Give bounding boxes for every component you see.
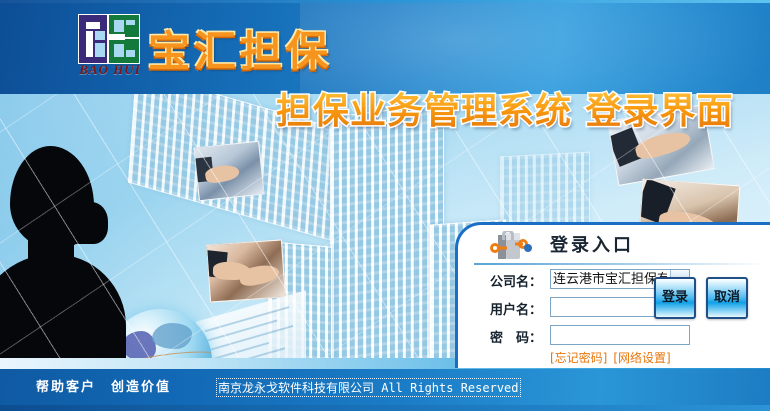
panel-links: [忘记密码][网络设置] <box>550 349 671 366</box>
login-panel: 登录入口 公司名： 连云港市宝汇担保有 用户名： 密 码： <box>455 222 770 368</box>
lock-and-key-icon <box>482 231 536 261</box>
cancel-button[interactable]: 取消 <box>706 277 748 319</box>
forgot-password-link[interactable]: [忘记密码] <box>550 351 607 365</box>
password-label: 密 码： <box>458 327 542 346</box>
login-button[interactable]: 登录 <box>654 277 696 319</box>
footer-slogan: 帮助客户 创造价值 <box>36 376 171 395</box>
username-label: 用户名： <box>458 299 542 318</box>
company-label: 公司名： <box>458 271 542 290</box>
company-select-value: 连云港市宝汇担保有 <box>553 271 667 289</box>
footer-copyright: 南京龙永戈软件科技有限公司 All Rights Reserved <box>216 378 521 397</box>
panel-heading: 登录入口 <box>550 231 634 257</box>
heading-divider <box>474 263 766 265</box>
password-input[interactable] <box>550 325 690 345</box>
baohui-monogram-logo-icon <box>78 14 140 64</box>
company-logo: BAO HUI <box>78 14 140 82</box>
page-title: 担保业务管理系统 登录界面 <box>276 82 734 134</box>
network-settings-link[interactable]: [网络设置] <box>613 351 670 365</box>
login-screen: BAO HUI 宝汇担保 <box>0 0 770 411</box>
footer-bottom-edge <box>0 405 770 411</box>
logo-caption: BAO HUI <box>74 62 146 78</box>
brand-name: 宝汇担保 <box>148 18 332 79</box>
